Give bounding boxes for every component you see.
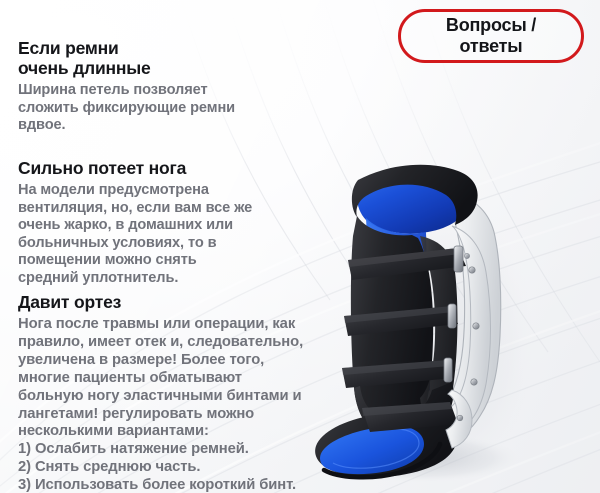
section-pressure-heading: Давит ортез (18, 292, 336, 312)
section-sweat-body: На модели предусмотренавентиляция, но, е… (18, 182, 280, 288)
section-straps-heading: Если ремниочень длинные (18, 38, 278, 78)
faq-badge[interactable]: Вопросы /ответы (398, 9, 584, 63)
section-pressure: Давит ортез Нога после травмы или операц… (18, 292, 336, 493)
section-sweat-heading: Сильно потеет нога (18, 158, 280, 178)
section-straps-body: Ширина петель позволяетсложить фиксирующ… (18, 82, 278, 135)
section-straps: Если ремниочень длинные Ширина петель по… (18, 38, 278, 135)
promo-infographic-page: Если ремниочень длинные Ширина петель по… (0, 0, 600, 493)
faq-badge-label: Вопросы /ответы (446, 15, 536, 57)
section-pressure-body: Нога после травмы или операции, какправи… (18, 316, 336, 493)
section-sweat: Сильно потеет нога На модели предусмотре… (18, 158, 280, 288)
text-content-column: Если ремниочень длинные Ширина петель по… (0, 0, 600, 493)
